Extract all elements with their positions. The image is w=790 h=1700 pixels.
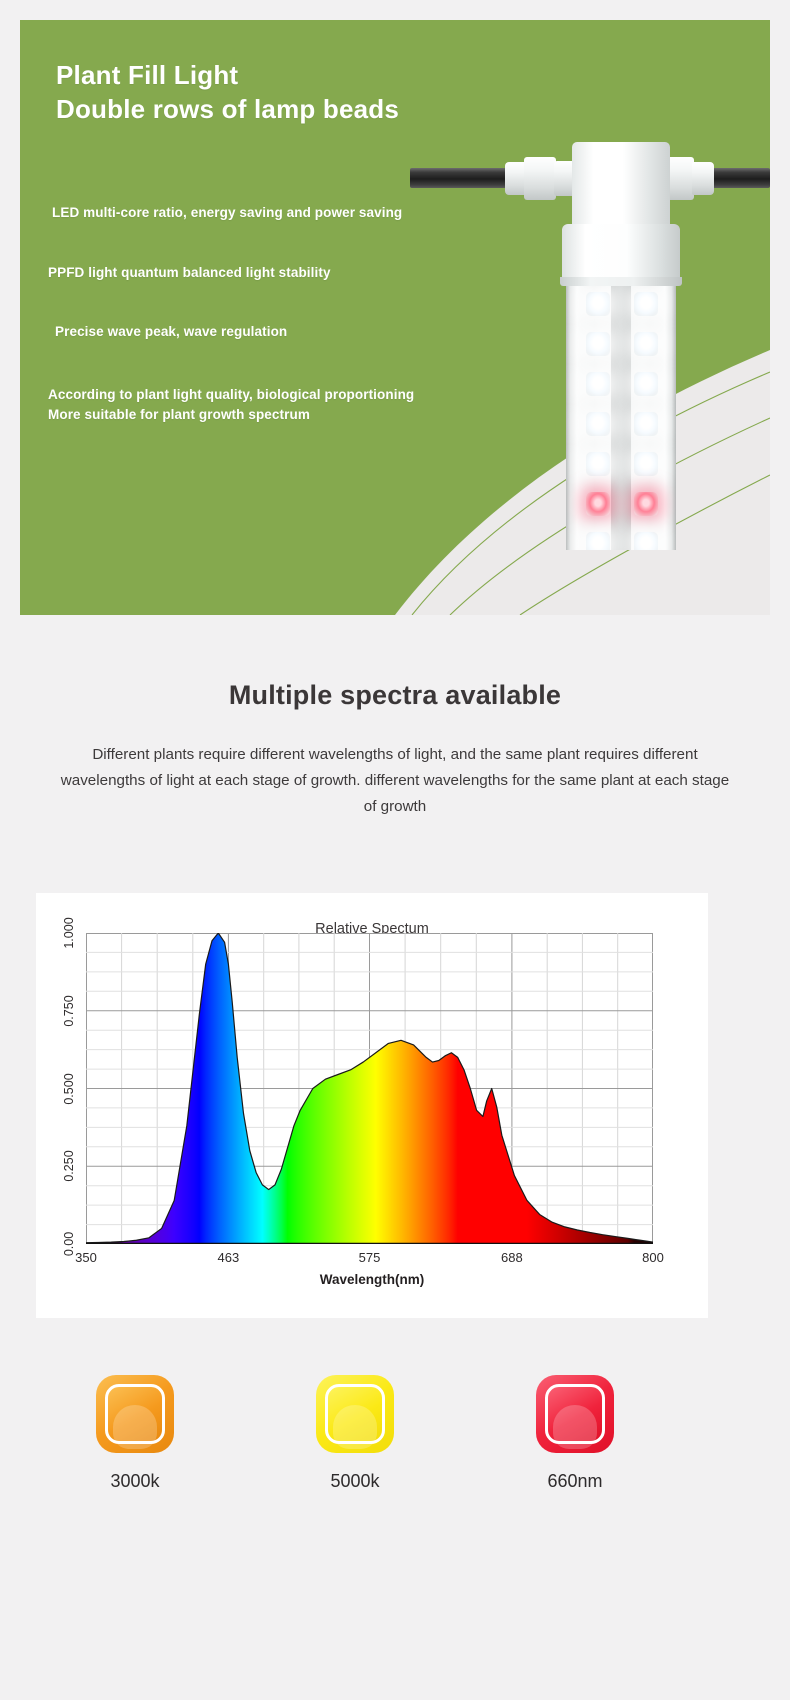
section-description: Different plants require different wavel… xyxy=(60,742,730,820)
led-bead-red xyxy=(634,492,658,516)
led-bead-white xyxy=(634,332,658,356)
led-chip-warm-white-icon xyxy=(96,1375,174,1453)
section-heading: Multiple spectra available xyxy=(0,680,790,711)
feature-bullet: According to plant light quality, biolog… xyxy=(48,385,448,423)
led-bead-white xyxy=(586,292,610,316)
led-bead-white xyxy=(586,452,610,476)
led-color-label: 5000k xyxy=(265,1471,445,1492)
led-tube xyxy=(566,286,676,550)
feature-bullet: LED multi-core ratio, energy saving and … xyxy=(48,203,448,222)
led-bead-white xyxy=(586,332,610,356)
led-bead-white xyxy=(586,372,610,396)
led-color-label: 660nm xyxy=(485,1471,665,1492)
led-color-option[interactable]: 5000k xyxy=(265,1375,445,1492)
connector-nut xyxy=(524,157,556,200)
led-color-options: 3000k 5000k 660nm xyxy=(0,1375,790,1555)
lamp-collar xyxy=(562,224,680,282)
led-bead-white xyxy=(634,412,658,436)
feature-bullet: Precise wave peak, wave regulation xyxy=(48,322,448,341)
product-image xyxy=(410,130,770,550)
led-color-label: 3000k xyxy=(45,1471,225,1492)
led-bead-white xyxy=(586,412,610,436)
chart-y-tick-label: 0.750 xyxy=(62,995,76,1026)
chart-x-tick-label: 688 xyxy=(501,1250,523,1265)
chart-x-tick-label: 800 xyxy=(642,1250,664,1265)
chart-x-tick-label: 575 xyxy=(359,1250,381,1265)
led-bead-white xyxy=(634,532,658,550)
spectrum-curve xyxy=(86,933,653,1244)
led-chip-cool-white-icon xyxy=(316,1375,394,1453)
chart-y-tick-label: 0.250 xyxy=(62,1151,76,1182)
led-color-option[interactable]: 660nm xyxy=(485,1375,665,1492)
tee-junction-housing xyxy=(572,142,670,226)
led-bead-white xyxy=(634,292,658,316)
connector-nut xyxy=(692,162,714,195)
led-chip-deep-red-icon xyxy=(536,1375,614,1453)
led-bead-red xyxy=(586,492,610,516)
led-bead-white xyxy=(586,532,610,550)
page-title: Plant Fill Light Double rows of lamp bea… xyxy=(56,58,399,127)
led-bead-white xyxy=(634,372,658,396)
chart-plot-area xyxy=(86,933,653,1244)
chart-x-tick-label: 463 xyxy=(218,1250,240,1265)
chart-x-axis-label: Wavelength(nm) xyxy=(36,1272,708,1287)
led-color-option[interactable]: 3000k xyxy=(45,1375,225,1492)
feature-bullet-list: LED multi-core ratio, energy saving and … xyxy=(48,195,448,424)
led-bead-white xyxy=(634,452,658,476)
chart-x-tick-label: 350 xyxy=(75,1250,97,1265)
chart-y-tick-label: 1.000 xyxy=(62,917,76,948)
lamp-collar-lip xyxy=(560,277,682,286)
chart-y-tick-label: 0.500 xyxy=(62,1073,76,1104)
hero-banner: Plant Fill Light Double rows of lamp bea… xyxy=(20,20,770,615)
chart-y-tick-label: 0.00 xyxy=(62,1232,76,1256)
spectrum-chart-card: Relative Spectum 0.000.2500.5000.7501.00… xyxy=(36,893,708,1318)
tube-core-strip xyxy=(611,286,631,550)
feature-bullet: PPFD light quantum balanced light stabil… xyxy=(48,263,448,282)
